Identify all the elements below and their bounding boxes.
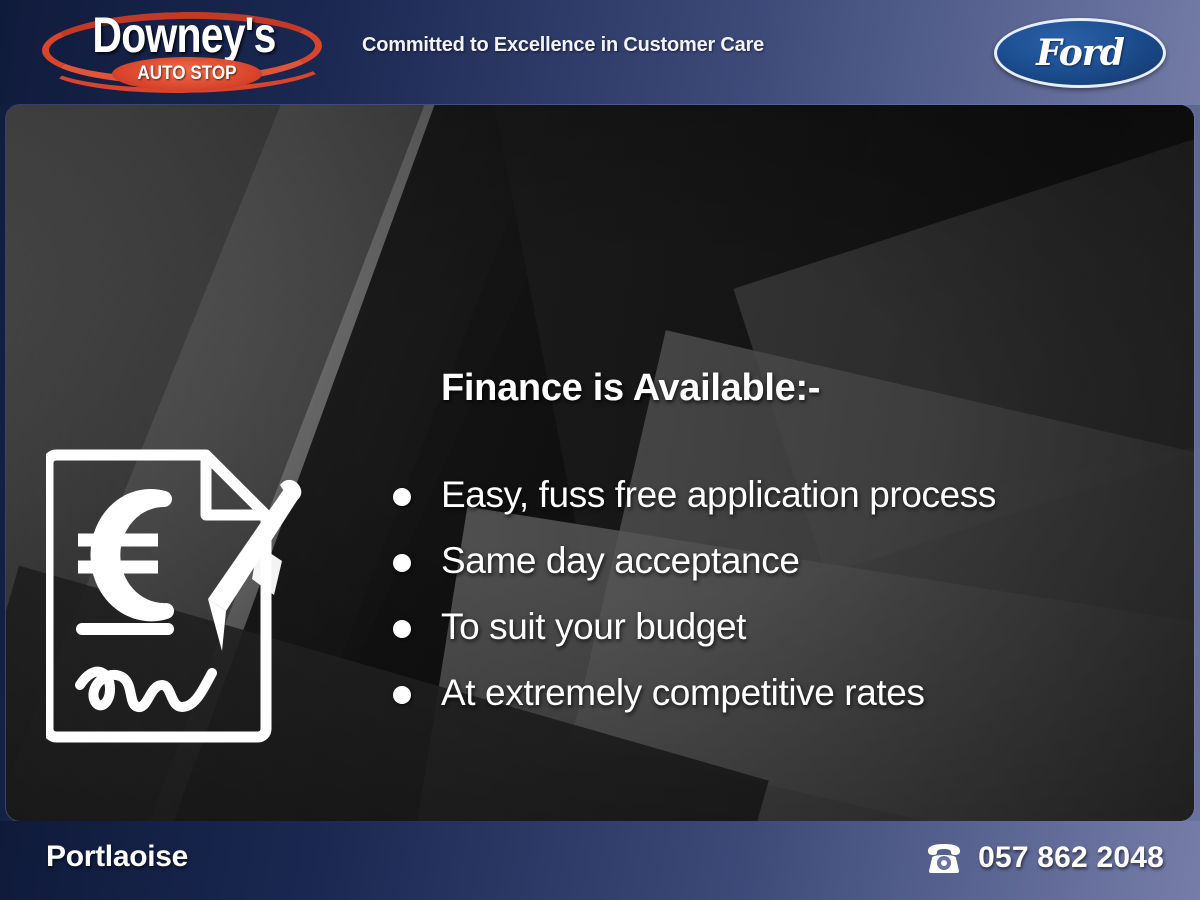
list-item: At extremely competitive rates xyxy=(441,660,1171,726)
ford-logo[interactable]: Ford xyxy=(994,18,1166,88)
list-item: Easy, fuss free application process xyxy=(441,462,1171,528)
phone-number: 057 862 2048 xyxy=(978,841,1164,875)
ford-logo-text: Ford xyxy=(994,18,1166,88)
list-item-label: To suit your budget xyxy=(441,606,746,647)
phone-contact[interactable]: 057 862 2048 xyxy=(924,841,1164,875)
downeys-logo[interactable]: Downey's AUTO STOP xyxy=(32,2,332,102)
page-title: Finance is Available:- xyxy=(441,367,1171,410)
list-item: Same day acceptance xyxy=(441,528,1171,594)
logo-brand-sub: AUTO STOP xyxy=(120,57,255,91)
header-bar: Downey's AUTO STOP Committed to Excellen… xyxy=(0,0,1200,105)
bullet-dot-icon xyxy=(393,554,411,572)
logo-pill-shape: AUTO STOP xyxy=(112,57,262,91)
branch-location: Portlaoise xyxy=(46,840,188,874)
header-tagline: Committed to Excellence in Customer Care xyxy=(362,34,764,57)
list-item: To suit your budget xyxy=(441,594,1171,660)
list-item-label: Easy, fuss free application process xyxy=(441,474,996,515)
bullet-dot-icon xyxy=(393,686,411,704)
footer-bar: Portlaoise 057 862 2048 xyxy=(0,821,1200,900)
finance-banner: Downey's AUTO STOP Committed to Excellen… xyxy=(0,0,1200,900)
bullet-dot-icon xyxy=(393,620,411,638)
benefits-list: Easy, fuss free application process Same… xyxy=(441,462,1171,726)
main-panel: Finance is Available:- Easy, fuss free a… xyxy=(6,105,1194,821)
logo-brand-name: Downey's xyxy=(87,8,281,62)
euro-document-signature-icon xyxy=(46,437,304,747)
list-item-label: Same day acceptance xyxy=(441,540,800,581)
bullet-dot-icon xyxy=(393,488,411,506)
finance-content: Finance is Available:- Easy, fuss free a… xyxy=(441,367,1171,726)
telephone-icon xyxy=(924,842,964,874)
list-item-label: At extremely competitive rates xyxy=(441,672,925,713)
